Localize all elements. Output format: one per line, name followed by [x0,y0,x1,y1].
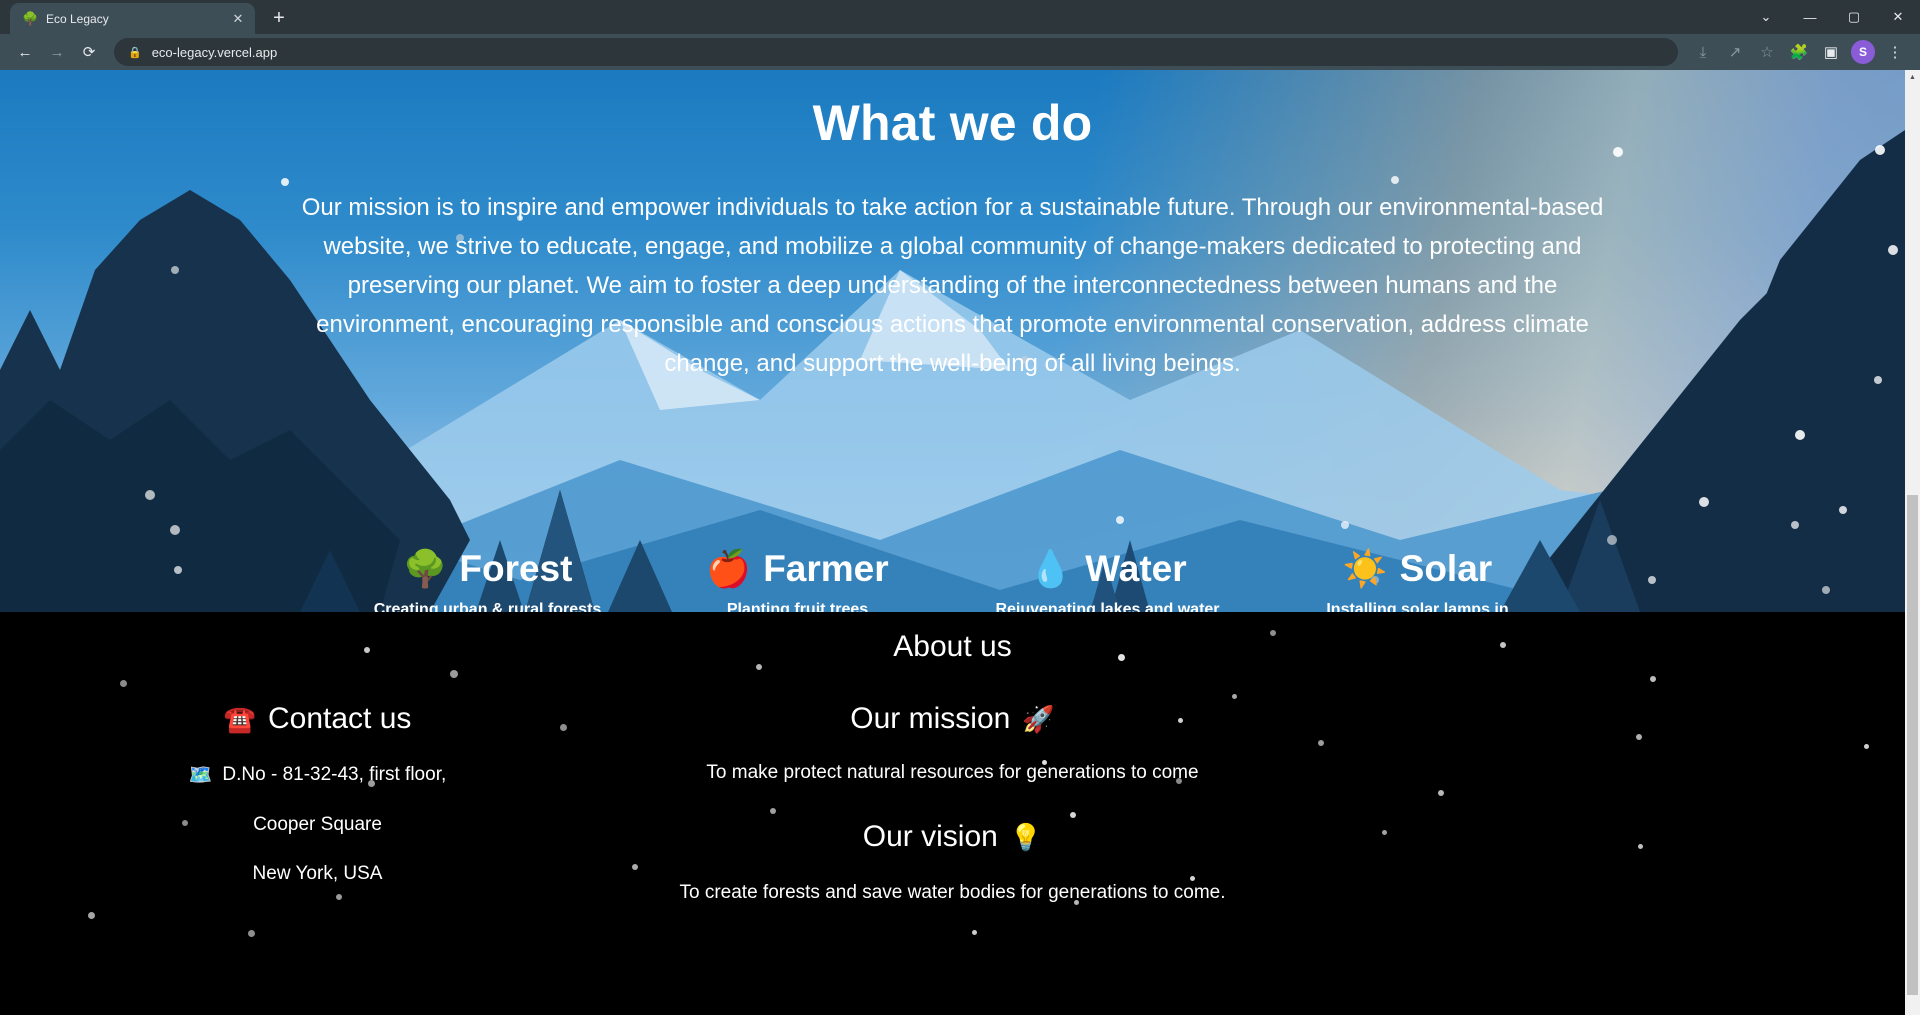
telephone-icon: ☎️ [224,704,256,735]
page-title: What we do [0,94,1905,152]
map-icon: 🗺️ [189,763,213,787]
window-close-button[interactable]: ✕ [1876,3,1920,31]
tab-title: Eco Legacy [46,12,221,26]
window-maximize-button[interactable]: ▢ [1832,3,1876,31]
address-bar[interactable]: 🔒 eco-legacy.vercel.app [114,38,1678,66]
window-controls: ⌄ — ▢ ✕ [1744,3,1920,31]
apple-icon: 🍎 [706,551,751,587]
service-card-solar[interactable]: ☀️ Solar Installing solar lamps in villa… [1263,548,1573,612]
address-line-2: Cooper Square [0,814,635,836]
back-icon[interactable]: ← [10,37,40,67]
card-title: Solar [1400,548,1493,590]
page-viewport: What we do Our mission is to inspire and… [0,70,1920,1015]
install-app-icon[interactable]: ⤓ [1688,37,1718,67]
address-line-1-text: D.No - 81-32-43, first floor, [222,764,446,786]
side-panel-icon[interactable]: ▣ [1816,37,1846,67]
service-cards: 🌳 Forest Creating urban & rural forests … [0,548,1905,612]
mission-vision-column: Our mission 🚀 To make protect natural re… [635,702,1270,904]
lock-icon: 🔒 [128,46,142,59]
about-column-spacer [1270,702,1905,904]
web-page: What we do Our mission is to inspire and… [0,70,1905,1015]
tab-close-icon[interactable]: ✕ [229,10,247,28]
tab-search-chevron-icon[interactable]: ⌄ [1744,3,1788,31]
share-icon[interactable]: ↗ [1720,37,1750,67]
extensions-puzzle-icon[interactable]: 🧩 [1784,37,1814,67]
reload-icon[interactable]: ⟳ [74,37,104,67]
avatar-initial: S [1851,40,1875,64]
chrome-menu-icon[interactable]: ⋮ [1880,37,1910,67]
card-subtitle: Installing solar lamps in villages [1303,598,1533,612]
water-drop-icon: 💧 [1028,551,1073,587]
tab-favicon-icon: 🌳 [22,12,38,25]
card-title: Water [1085,548,1186,590]
service-card-forest[interactable]: 🌳 Forest Creating urban & rural forests [333,548,643,612]
card-head: ☀️ Solar [1343,548,1492,590]
vision-text: To create forests and save water bodies … [635,882,1270,904]
page-scrollbar[interactable]: ▲ [1905,70,1920,1015]
toolbar-actions: ⤓ ↗ ☆ 🧩 ▣ S ⋮ [1688,37,1910,67]
address-line-3: New York, USA [0,863,635,885]
contact-heading-label: Contact us [268,702,411,736]
profile-avatar[interactable]: S [1848,37,1878,67]
lightbulb-icon: 💡 [1010,822,1042,853]
hero-section: What we do Our mission is to inspire and… [0,70,1905,612]
browser-window: 🌳 Eco Legacy ✕ + ⌄ — ▢ ✕ ← → ⟳ 🔒 eco-leg… [0,0,1920,1015]
card-head: 🌳 Forest [403,548,573,590]
tab-strip: 🌳 Eco Legacy ✕ + ⌄ — ▢ ✕ [0,0,1920,34]
browser-tab-eco-legacy[interactable]: 🌳 Eco Legacy ✕ [10,3,255,34]
card-subtitle: Rejuvenating lakes and water bodies [993,598,1223,612]
card-subtitle: Creating urban & rural forests [373,598,603,612]
new-tab-button[interactable]: + [265,4,293,32]
vision-heading-label: Our vision [863,820,998,854]
card-subtitle: Planting fruit trees [683,598,913,612]
card-title: Farmer [763,548,888,590]
address-line-1: 🗺️ D.No - 81-32-43, first floor, [0,763,635,787]
mission-text: To make protect natural resources for ge… [635,762,1270,784]
contact-heading: ☎️ Contact us [0,702,635,736]
sun-icon: ☀️ [1343,551,1388,587]
card-head: 💧 Water [1028,548,1186,590]
tree-icon: 🌳 [403,551,448,587]
browser-toolbar: ← → ⟳ 🔒 eco-legacy.vercel.app ⤓ ↗ ☆ 🧩 ▣ … [0,34,1920,70]
scrollbar-up-arrow[interactable]: ▲ [1905,70,1920,85]
rocket-icon: 🚀 [1022,704,1054,735]
scrollbar-thumb[interactable] [1907,495,1918,995]
bookmark-star-icon[interactable]: ☆ [1752,37,1782,67]
vision-heading: Our vision 💡 [635,820,1270,854]
mission-heading: Our mission 🚀 [635,702,1270,736]
hero-paragraph: Our mission is to inspire and empower in… [293,188,1613,383]
window-minimize-button[interactable]: — [1788,3,1832,31]
hero-content: What we do Our mission is to inspire and… [0,70,1905,383]
contact-column: ☎️ Contact us 🗺️ D.No - 81-32-43, first … [0,702,635,904]
about-section: About us ☎️ Contact us 🗺️ D.No - 81-32-4… [0,612,1905,1015]
mission-heading-label: Our mission [850,702,1010,736]
forward-icon[interactable]: → [42,37,72,67]
address-bar-url: eco-legacy.vercel.app [152,45,278,60]
service-card-farmer[interactable]: 🍎 Farmer Planting fruit trees [643,548,953,612]
about-columns: ☎️ Contact us 🗺️ D.No - 81-32-43, first … [0,702,1905,904]
service-card-water[interactable]: 💧 Water Rejuvenating lakes and water bod… [953,548,1263,612]
card-title: Forest [459,548,572,590]
about-heading: About us [0,630,1905,664]
card-head: 🍎 Farmer [706,548,888,590]
